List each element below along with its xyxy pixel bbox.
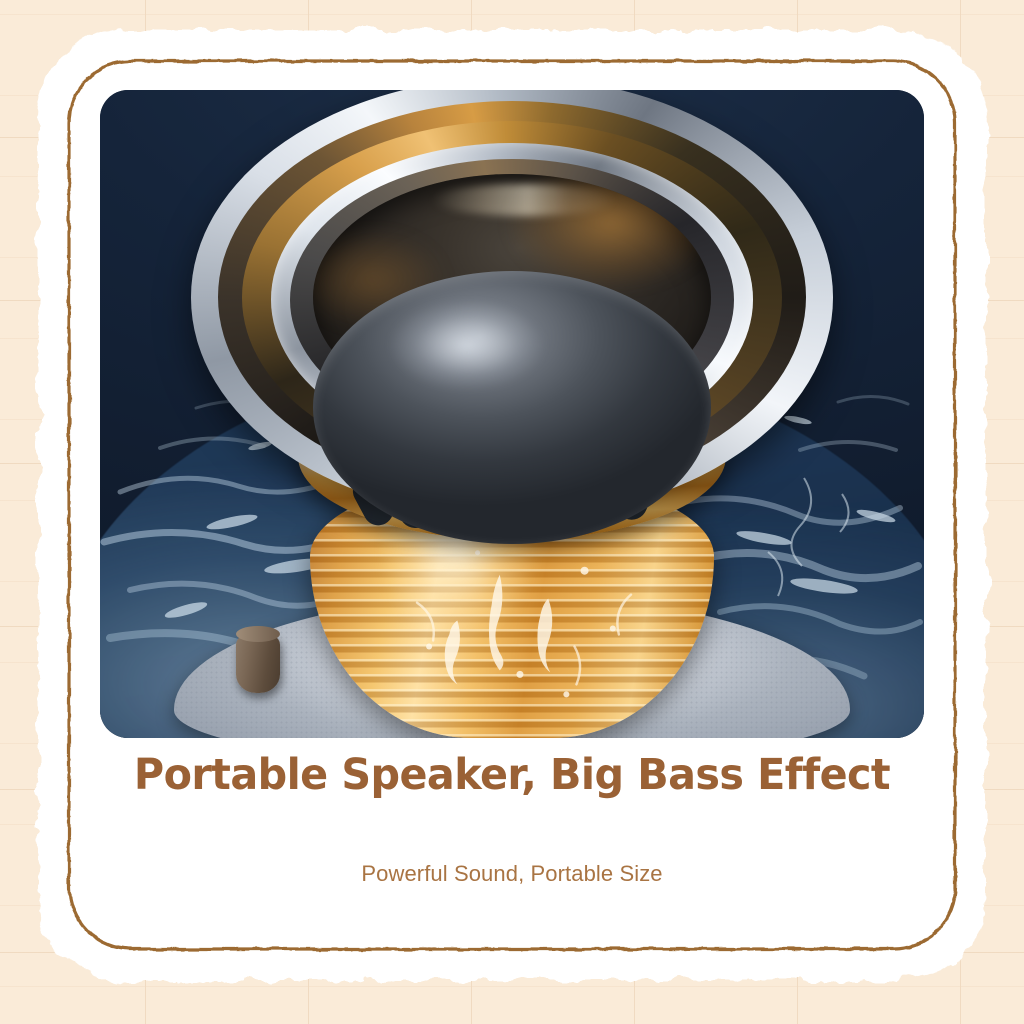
speaker-cone-assembly bbox=[191, 90, 834, 518]
page-title: Portable Speaker, Big Bass Effect bbox=[116, 752, 907, 799]
page-subtitle: Powerful Sound, Portable Size bbox=[100, 861, 924, 887]
caption-block: Portable Speaker, Big Bass Effect Powerf… bbox=[100, 752, 924, 887]
poster-canvas: Portable Speaker, Big Bass Effect Powerf… bbox=[0, 0, 1024, 1024]
product-photo bbox=[100, 90, 924, 738]
base-stud bbox=[236, 631, 280, 693]
cone-dome-highlight bbox=[383, 297, 550, 394]
cone-top-glint bbox=[432, 184, 615, 216]
